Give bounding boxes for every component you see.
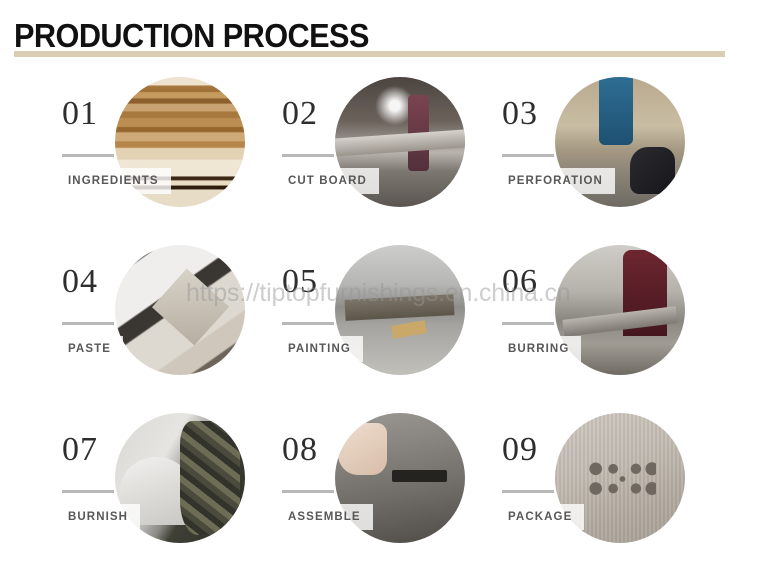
- page-header: PRODUCTION PROCESS: [0, 0, 774, 72]
- step-divider: [62, 490, 114, 493]
- step-divider: [282, 322, 334, 325]
- step-label: INGREDIENTS: [68, 175, 159, 187]
- process-step-09[interactable]: 09 PACKAGE: [478, 408, 736, 576]
- step-number: 06: [502, 265, 538, 299]
- step-label: PERFORATION: [508, 175, 603, 187]
- step-label: CUT BOARD: [288, 175, 367, 187]
- process-row-2: 04 PASTE 05 PAINTING 06 BURRING: [0, 240, 774, 408]
- process-row-3: 07 BURNISH 08 ASSEMBLE 09 PACKAGE: [0, 408, 774, 576]
- step-number: 09: [502, 433, 538, 467]
- step-label-band: BURNISH: [58, 504, 140, 530]
- step-number: 01: [62, 97, 98, 131]
- process-row-1: 01 INGREDIENTS 02 CUT BOARD 03 PERFORATI…: [0, 72, 774, 240]
- step-label-band: PACKAGE: [498, 504, 584, 530]
- step-label: ASSEMBLE: [288, 511, 361, 523]
- process-step-03[interactable]: 03 PERFORATION: [478, 72, 736, 240]
- step-divider: [502, 490, 554, 493]
- step-divider: [282, 154, 334, 157]
- step-number: 02: [282, 97, 318, 131]
- step-label: PASTE: [68, 343, 111, 355]
- step-number: 05: [282, 265, 318, 299]
- step-divider: [62, 322, 114, 325]
- step-divider: [502, 322, 554, 325]
- step-label-band: PERFORATION: [498, 168, 615, 194]
- step-label-band: CUT BOARD: [278, 168, 379, 194]
- step-number: 03: [502, 97, 538, 131]
- step-label-band: ASSEMBLE: [278, 504, 373, 530]
- step-label-band: BURRING: [498, 336, 581, 362]
- process-step-06[interactable]: 06 BURRING: [478, 240, 736, 408]
- step-label: BURRING: [508, 343, 569, 355]
- step-label: BURNISH: [68, 511, 128, 523]
- step-photo-paste: [115, 245, 245, 375]
- process-steps-grid: 01 INGREDIENTS 02 CUT BOARD 03 PERFORATI…: [0, 72, 774, 578]
- step-label-band: PASTE: [58, 336, 123, 362]
- step-label-band: INGREDIENTS: [58, 168, 171, 194]
- step-divider: [502, 154, 554, 157]
- page-title: PRODUCTION PROCESS: [14, 17, 369, 55]
- step-label-band: PAINTING: [278, 336, 363, 362]
- step-label: PAINTING: [288, 343, 351, 355]
- step-divider: [282, 490, 334, 493]
- step-label: PACKAGE: [508, 511, 572, 523]
- step-number: 08: [282, 433, 318, 467]
- step-divider: [62, 154, 114, 157]
- step-number: 07: [62, 433, 98, 467]
- step-number: 04: [62, 265, 98, 299]
